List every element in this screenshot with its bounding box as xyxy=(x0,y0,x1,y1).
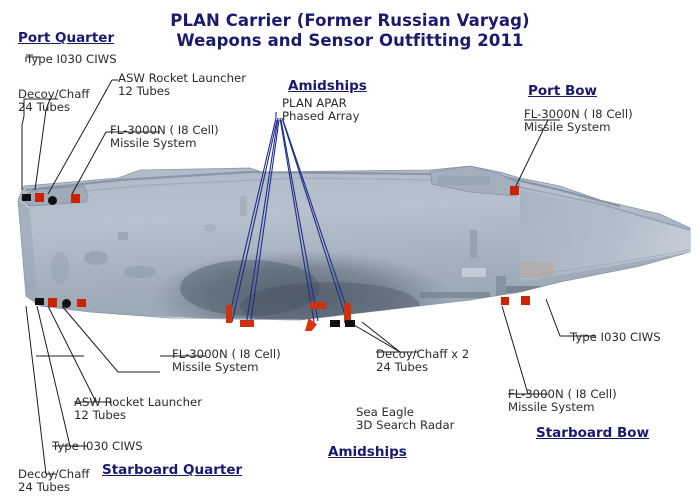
annotation-fl3000n-port-bow: FL-3000N ( I8 Cell)Missile System xyxy=(524,108,633,135)
annotation-line: 24 Tubes xyxy=(376,361,469,374)
annotation-line: Type I030 CIWS xyxy=(52,440,143,453)
annotation-line: Type I030 CIWS xyxy=(570,331,661,344)
diagram-canvas: PLAN Carrier (Former Russian Varyag) Wea… xyxy=(0,0,700,500)
annotation-decoy-chaff-starboard-quarter: Decoy/Chaff24 Tubes xyxy=(18,468,89,495)
annotation-line: Phased Array xyxy=(282,110,360,123)
annotation-line: FL-3000N ( I8 Cell) xyxy=(172,348,281,361)
annotation-fl3000n-port-quarter: FL-3000N ( I8 Cell)Missile System xyxy=(110,124,219,151)
annotation-line: Type I030 CIWS xyxy=(26,53,117,66)
annotation-line: ASW Rocket Launcher xyxy=(118,72,246,85)
annotation-line: ASW Rocket Launcher xyxy=(74,396,202,409)
annotation-asw-rocket-launcher-starboard: ASW Rocket Launcher12 Tubes xyxy=(74,396,202,423)
annotation-plan-apar-phased-array: PLAN APARPhased Array xyxy=(282,97,360,124)
annotation-line: PLAN APAR xyxy=(282,97,360,110)
annotation-line: 12 Tubes xyxy=(118,85,246,98)
annotation-line: FL-3000N ( I8 Cell) xyxy=(524,108,633,121)
annotation-line: Decoy/Chaff xyxy=(18,468,89,481)
annotation-line: Missile System xyxy=(508,401,617,414)
hull-body xyxy=(18,166,690,342)
annotation-decoy-chaff-x2-amidships: Decoy/Chaff x 224 Tubes xyxy=(376,348,469,375)
section-heading-port-quarter: Port Quarter xyxy=(18,30,114,46)
annotation-line: Decoy/Chaff x 2 xyxy=(376,348,469,361)
annotation-line: Sea Eagle xyxy=(356,406,454,419)
annotation-line: Missile System xyxy=(172,361,281,374)
annotation-type1030-ciws-starboard-bow: Type I030 CIWS xyxy=(570,331,661,344)
page-title-line1: PLAN Carrier (Former Russian Varyag) xyxy=(0,11,700,30)
annotation-line: 3D Search Radar xyxy=(356,419,454,432)
annotation-sea-eagle-3d-search-radar: Sea Eagle3D Search Radar xyxy=(356,406,454,433)
section-heading-amidships-top: Amidships xyxy=(288,78,367,94)
annotation-line: 24 Tubes xyxy=(18,101,89,114)
annotation-line: FL-3000N ( I8 Cell) xyxy=(508,388,617,401)
annotation-line: Missile System xyxy=(524,121,633,134)
annotation-type1030-ciws-port-quarter: Type I030 CIWS xyxy=(26,53,117,66)
annotation-line: 24 Tubes xyxy=(18,481,89,494)
annotation-line: FL-3000N ( I8 Cell) xyxy=(110,124,219,137)
section-heading-starboard-quarter: Starboard Quarter xyxy=(102,462,242,478)
annotation-fl3000n-starboard-bow: FL-3000N ( I8 Cell)Missile System xyxy=(508,388,617,415)
annotation-decoy-chaff-port-quarter: Decoy/Chaff24 Tubes xyxy=(18,88,89,115)
annotation-asw-rocket-launcher-port: ASW Rocket Launcher12 Tubes xyxy=(118,72,246,99)
annotation-type1030-ciws-stbd-quarter: Type I030 CIWS xyxy=(52,440,143,453)
section-heading-port-bow: Port Bow xyxy=(528,83,597,99)
section-heading-amidships-bottom: Amidships xyxy=(328,444,407,460)
annotation-line: Decoy/Chaff xyxy=(18,88,89,101)
annotation-line: 12 Tubes xyxy=(74,409,202,422)
section-heading-starboard-bow: Starboard Bow xyxy=(536,425,649,441)
annotation-line: Missile System xyxy=(110,137,219,150)
annotation-fl3000n-starboard-quarter: FL-3000N ( I8 Cell)Missile System xyxy=(172,348,281,375)
